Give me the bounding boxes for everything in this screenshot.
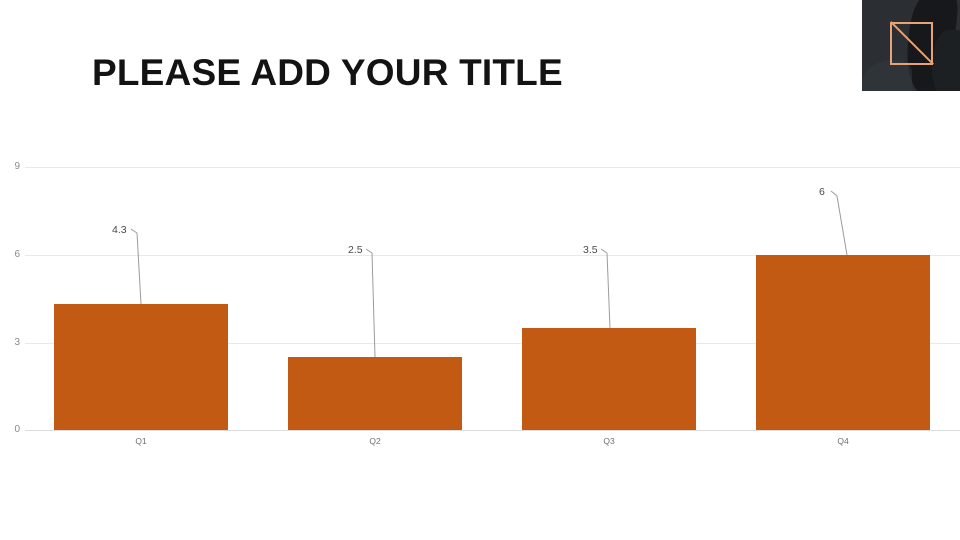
data-label-q4: 6 — [819, 186, 825, 198]
x-axis-label-q4: Q4 — [756, 436, 930, 446]
x-axis-label-q2: Q2 — [288, 436, 462, 446]
data-label-q3: 3.5 — [583, 244, 598, 256]
data-label-q1: 4.3 — [112, 224, 127, 236]
x-axis-label-q1: Q1 — [54, 436, 228, 446]
slide-canvas: PLEASE ADD YOUR TITLE 9 6 3 0 — [0, 0, 960, 540]
bar-chart[interactable]: 9 6 3 0 4.3 2.5 3.5 6 Q1 Q — [0, 0, 960, 540]
x-axis-label-q3: Q3 — [522, 436, 696, 446]
data-label-q2: 2.5 — [348, 244, 363, 256]
leader-lines — [0, 0, 960, 540]
